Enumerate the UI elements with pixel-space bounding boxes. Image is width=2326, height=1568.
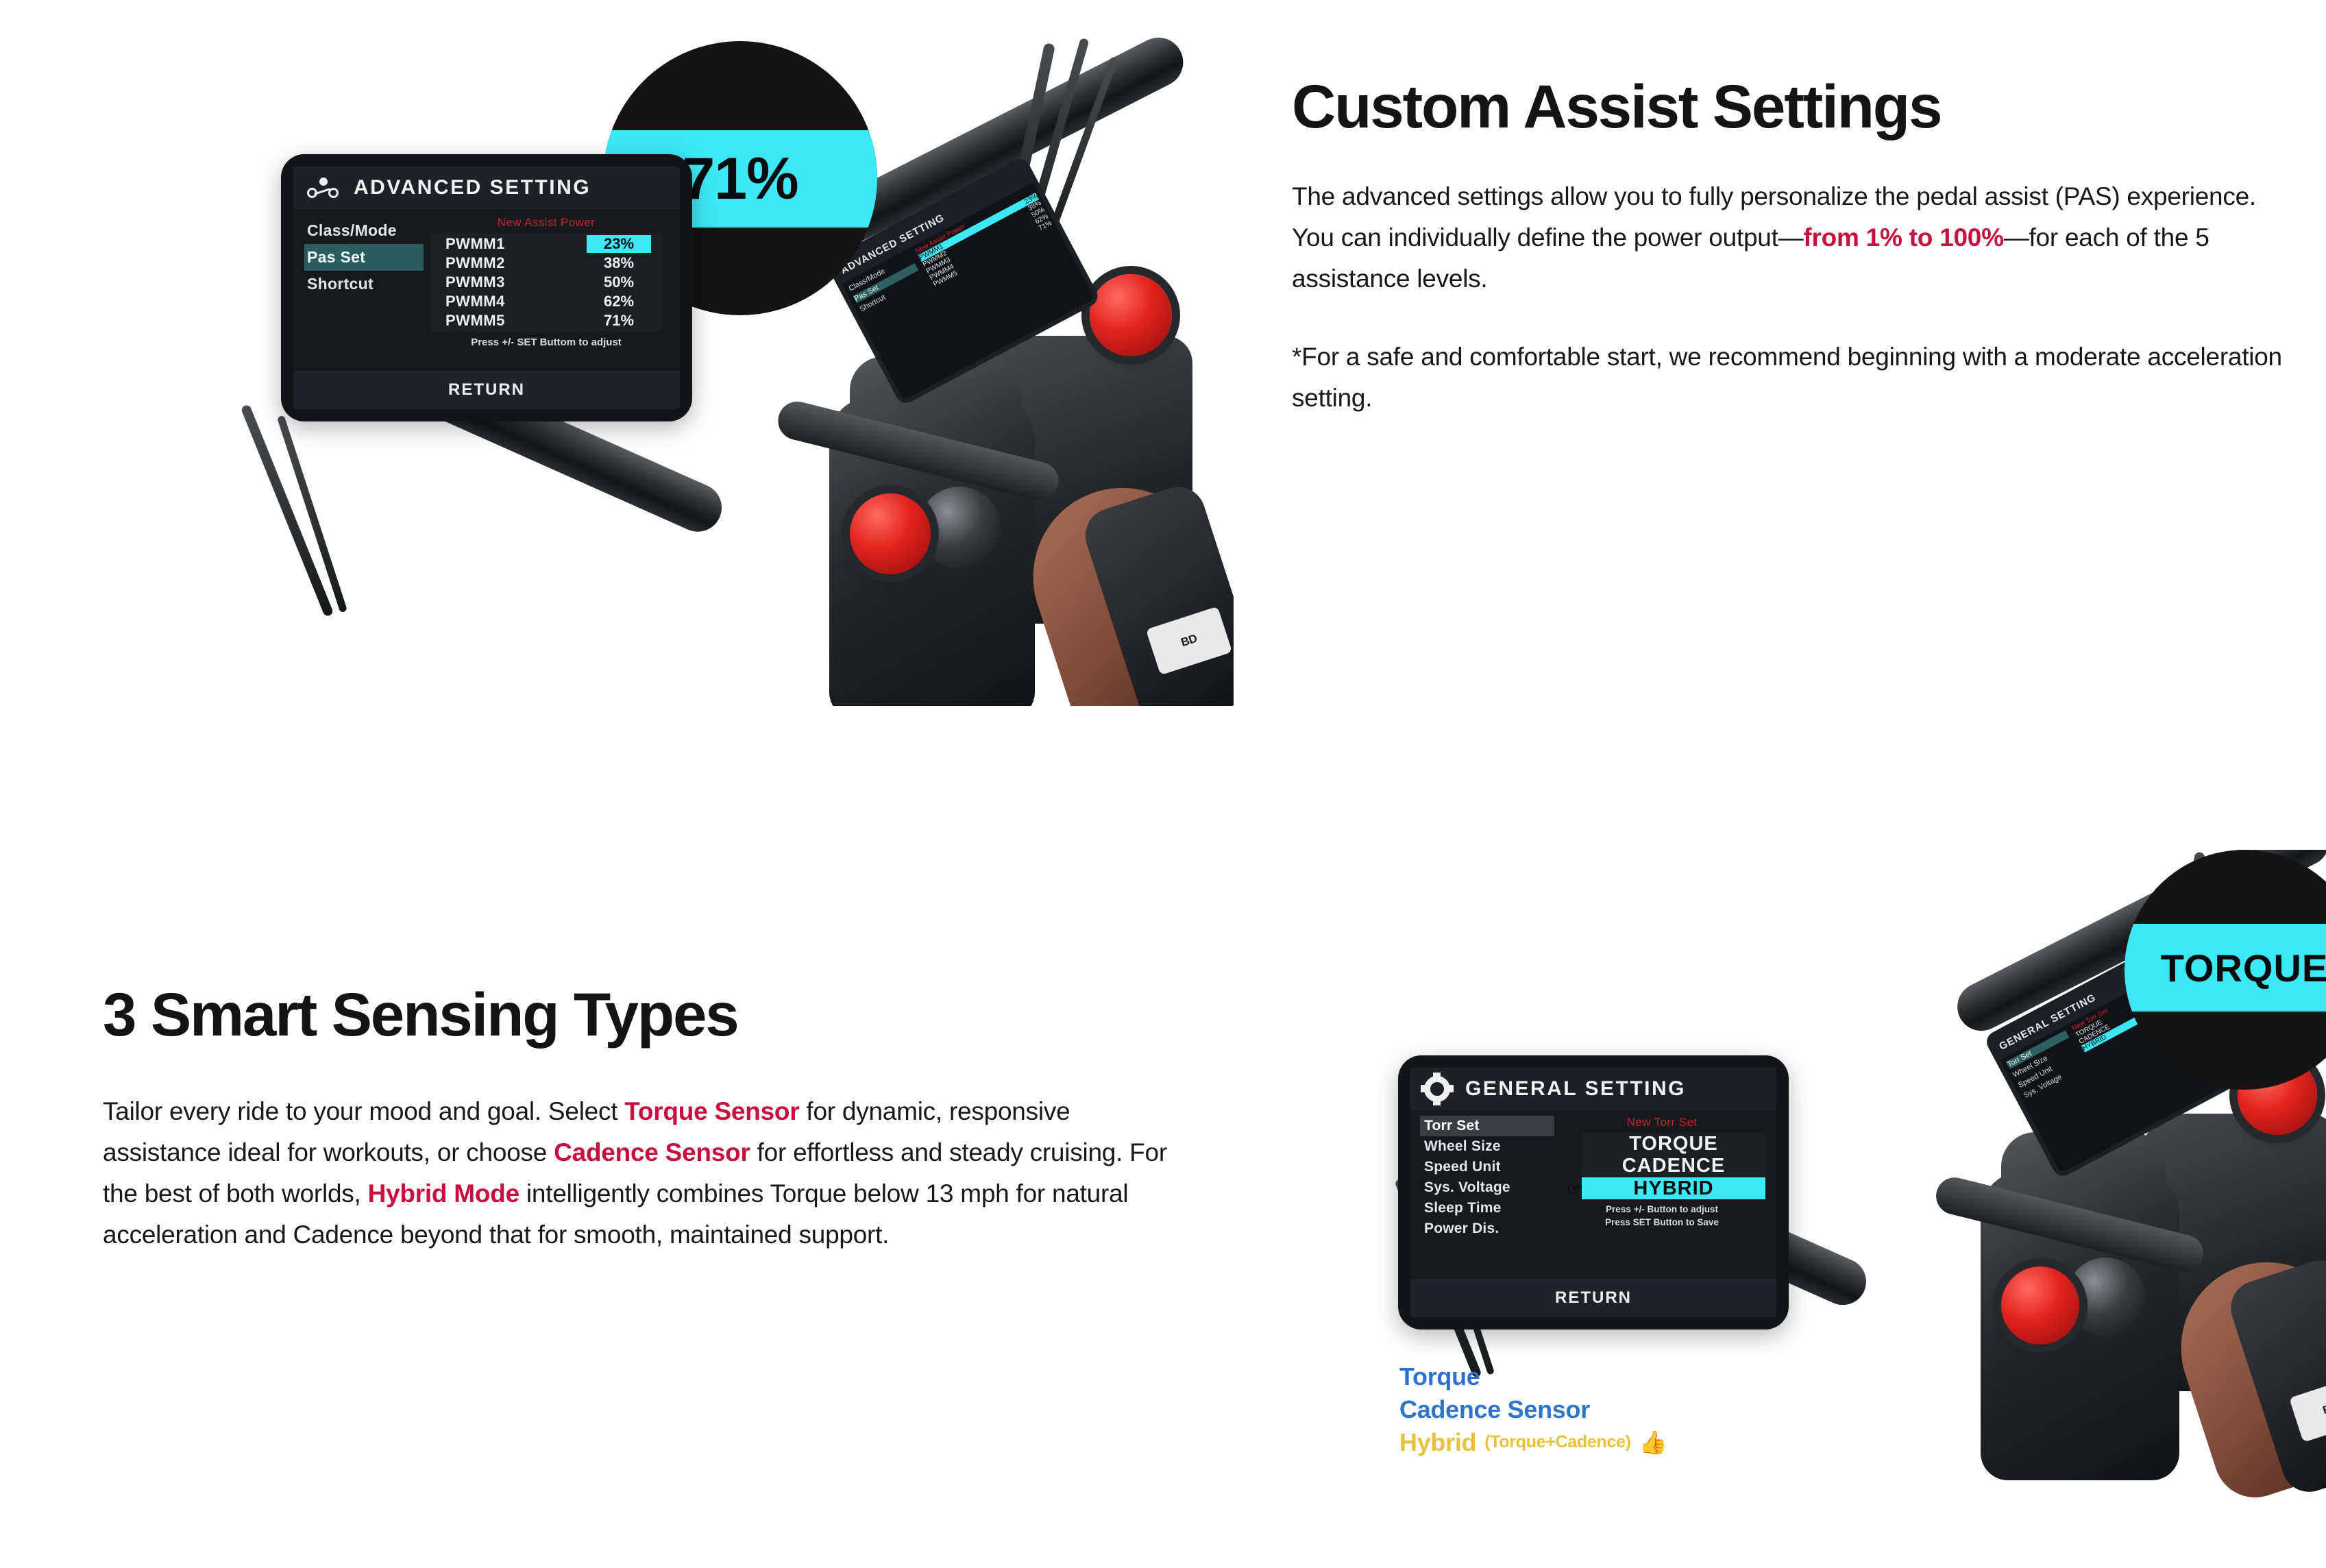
- accent-torque-sensor: Torque Sensor: [624, 1097, 799, 1125]
- return-label: RETURN: [1555, 1288, 1632, 1308]
- pwm-rows: PWMM1 23% PWMM2 38% PWMM3 50%: [430, 233, 662, 332]
- legend-hybrid-label: Hybrid: [1399, 1426, 1476, 1459]
- magnified-value: TORQUE: [2161, 946, 2326, 990]
- marketing-page: BD ADVANCED SETTING Class/Mode Pas Set S…: [0, 0, 2326, 1568]
- return-button[interactable]: RETURN: [1410, 1279, 1776, 1317]
- display-menu-list: Class/Mode Pas Set Shortcut: [293, 209, 424, 371]
- display-screen: ADVANCED SETTING Class/Mode Pas Set Shor…: [293, 167, 680, 409]
- menu-item-power-dis[interactable]: Power Dis.: [1420, 1218, 1554, 1239]
- display-callout-general-setting: GENERAL SETTING Torr Set Wheel Size Spee…: [1398, 1055, 1789, 1330]
- legend-hybrid-sub: (Torque+Cadence): [1484, 1431, 1631, 1454]
- return-label: RETURN: [448, 380, 525, 400]
- return-button[interactable]: RETURN: [293, 371, 680, 409]
- magnifier-highlight-band: TORQUE: [2125, 924, 2326, 1012]
- legend-hybrid: Hybrid (Torque+Cadence) 👍: [1399, 1426, 1879, 1459]
- section-custom-assist-settings: BD ADVANCED SETTING Class/Mode Pas Set S…: [0, 0, 2326, 754]
- display-main: Torr Set Wheel Size Speed Unit Sys. Volt…: [1410, 1110, 1776, 1279]
- thumbs-up-icon: 👍: [1639, 1428, 1667, 1458]
- page-title-smart-sensing: 3 Smart Sensing Types: [103, 983, 1172, 1046]
- display-callout-advanced-setting: ADVANCED SETTING Class/Mode Pas Set Shor…: [281, 154, 692, 421]
- paragraph-custom-assist-1: The advanced settings allow you to fully…: [1292, 176, 2296, 299]
- cyclist-icon: [307, 177, 339, 198]
- display-menu-list: Torr Set Wheel Size Speed Unit Sys. Volt…: [1410, 1110, 1554, 1279]
- paragraph-custom-assist-2: *For a safe and comfortable start, we re…: [1292, 336, 2296, 419]
- hint-line-1: Press +/- Button to adjust: [1558, 1203, 1765, 1216]
- accent-hybrid-mode: Hybrid Mode: [368, 1179, 519, 1208]
- pwm-row-4[interactable]: PWMM4 62%: [430, 292, 662, 311]
- pwm-row-1[interactable]: PWMM1 23%: [430, 234, 662, 254]
- sensing-text-1: Tailor every ride to your mood and goal.…: [103, 1097, 624, 1125]
- pwm-value: 62%: [587, 293, 651, 310]
- pwm-value: 50%: [587, 273, 651, 291]
- page-title-custom-assist: Custom Assist Settings: [1292, 75, 2296, 138]
- option-cadence[interactable]: CADENCE: [1582, 1155, 1765, 1177]
- stem-knob: [918, 487, 1001, 569]
- display-screen: GENERAL SETTING Torr Set Wheel Size Spee…: [1410, 1068, 1776, 1317]
- menu-item-sys-voltage[interactable]: Sys. Voltage: [1420, 1177, 1554, 1198]
- red-button-lower: [2001, 1266, 2079, 1345]
- custom-assist-text-block: Custom Assist Settings The advanced sett…: [1292, 75, 2296, 418]
- pwm-key: PWMM1: [445, 235, 505, 253]
- pointing-hand-icon: ☞: [1567, 1179, 1582, 1199]
- hint-line-2: Press SET Button to Save: [1558, 1216, 1765, 1229]
- pwm-key: PWMM2: [445, 254, 505, 272]
- menu-item-pas-set[interactable]: Pas Set: [304, 244, 424, 271]
- pwm-row-2[interactable]: PWMM2 38%: [430, 254, 662, 273]
- display-title: ADVANCED SETTING: [354, 176, 591, 199]
- gear-icon: [1424, 1076, 1450, 1102]
- paragraph-smart-sensing: Tailor every ride to your mood and goal.…: [103, 1091, 1172, 1255]
- pwm-value: 23%: [587, 235, 651, 253]
- pwm-row-3[interactable]: PWMM3 50%: [430, 273, 662, 292]
- pwm-value: 38%: [587, 254, 651, 272]
- smart-sensing-text-block: 3 Smart Sensing Types Tailor every ride …: [103, 983, 1172, 1255]
- menu-item-sleep-time[interactable]: Sleep Time: [1420, 1198, 1554, 1218]
- menu-item-shortcut[interactable]: Shortcut: [304, 271, 424, 297]
- legend-cadence: Cadence Sensor: [1399, 1393, 1879, 1426]
- menu-item-class-mode[interactable]: Class/Mode: [304, 217, 424, 244]
- magnified-value: 71%: [682, 145, 798, 213]
- pwm-row-5[interactable]: PWMM5 71%: [430, 311, 662, 330]
- display-titlebar: GENERAL SETTING: [1410, 1068, 1776, 1110]
- red-button-upper: [1090, 274, 1172, 356]
- display-main: Class/Mode Pas Set Shortcut New Assist P…: [293, 209, 680, 371]
- accent-power-range: from 1% to 100%: [1803, 223, 2003, 252]
- display-titlebar: ADVANCED SETTING: [293, 167, 680, 209]
- menu-item-wheel-size[interactable]: Wheel Size: [1420, 1136, 1554, 1157]
- section-smart-sensing-types: 3 Smart Sensing Types Tailor every ride …: [0, 809, 2326, 1568]
- product-photo-general-setting: BD GENERAL SETTING Torr Set Wheel Size S…: [1343, 850, 2326, 1568]
- sensor-options: TORQUE CADENCE HYBRID: [1582, 1133, 1765, 1199]
- product-photo-advanced-setting: BD ADVANCED SETTING Class/Mode Pas Set S…: [103, 14, 1234, 706]
- sensor-legend: Torque Cadence Sensor Hybrid (Torque+Cad…: [1399, 1360, 1879, 1459]
- new-assist-power-label: New Assist Power: [430, 216, 662, 230]
- legend-torque: Torque: [1399, 1360, 1879, 1393]
- pwm-key: PWMM3: [445, 273, 505, 291]
- pwm-value: 71%: [587, 312, 651, 330]
- display-values-pane: New Torr Set ☞ TORQUE CADENCE HYBRID: [1554, 1110, 1776, 1279]
- red-button-lower: [850, 493, 931, 574]
- pwm-key: PWMM5: [445, 312, 505, 330]
- menu-item-speed-unit[interactable]: Speed Unit: [1420, 1157, 1554, 1177]
- new-torr-set-label: New Torr Set: [1558, 1116, 1765, 1129]
- accent-cadence-sensor: Cadence Sensor: [554, 1138, 750, 1166]
- pwm-key: PWMM4: [445, 293, 505, 310]
- adjust-hint: Press +/- Button to adjust Press SET But…: [1558, 1203, 1765, 1228]
- display-title: GENERAL SETTING: [1465, 1077, 1686, 1101]
- adjust-hint: Press +/- SET Buttom to adjust: [430, 336, 662, 348]
- option-torque[interactable]: TORQUE: [1582, 1133, 1765, 1155]
- display-values-pane: New Assist Power PWMM1 23% PWMM2 38%: [424, 209, 680, 371]
- option-hybrid[interactable]: HYBRID: [1582, 1177, 1765, 1199]
- menu-item-torr-set[interactable]: Torr Set: [1420, 1116, 1554, 1136]
